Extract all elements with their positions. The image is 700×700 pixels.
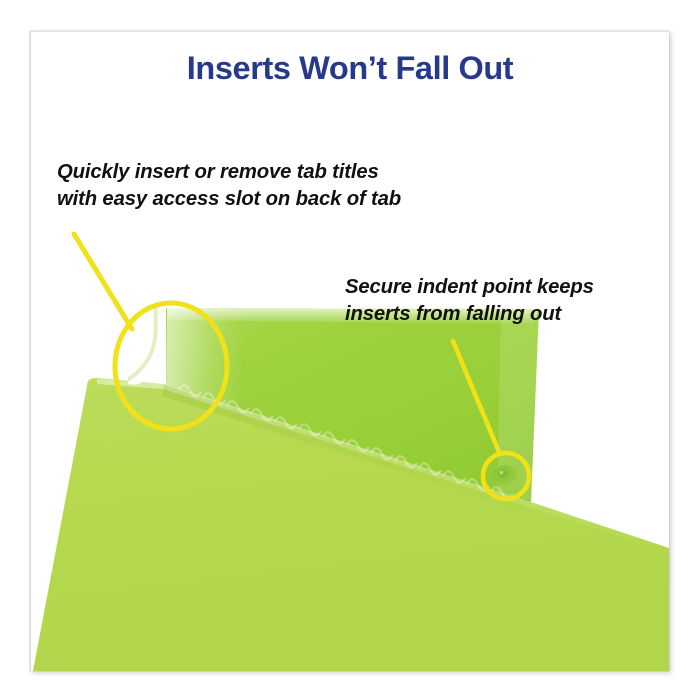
callout-indent-point-line2: inserts from falling out [345,301,594,328]
callout-indent-point: Secure indent point keeps inserts from f… [345,274,594,328]
access-slot-notch [128,302,159,385]
callout-access-slot-line2: with easy access slot on back of tab [57,186,401,213]
product-illustration [31,32,669,671]
callout-access-slot-line1: Quickly insert or remove tab titles [57,159,401,186]
callout-access-slot: Quickly insert or remove tab titles with… [57,159,401,213]
leader-line-access-slot [74,234,132,329]
product-feature-image: Inserts Won’t Fall Out Quickly insert or… [0,0,700,700]
indent-point [492,465,518,487]
callout-indent-point-line1: Secure indent point keeps [345,274,594,301]
photo-frame: Inserts Won’t Fall Out Quickly insert or… [30,31,669,671]
page-title: Inserts Won’t Fall Out [31,51,669,87]
